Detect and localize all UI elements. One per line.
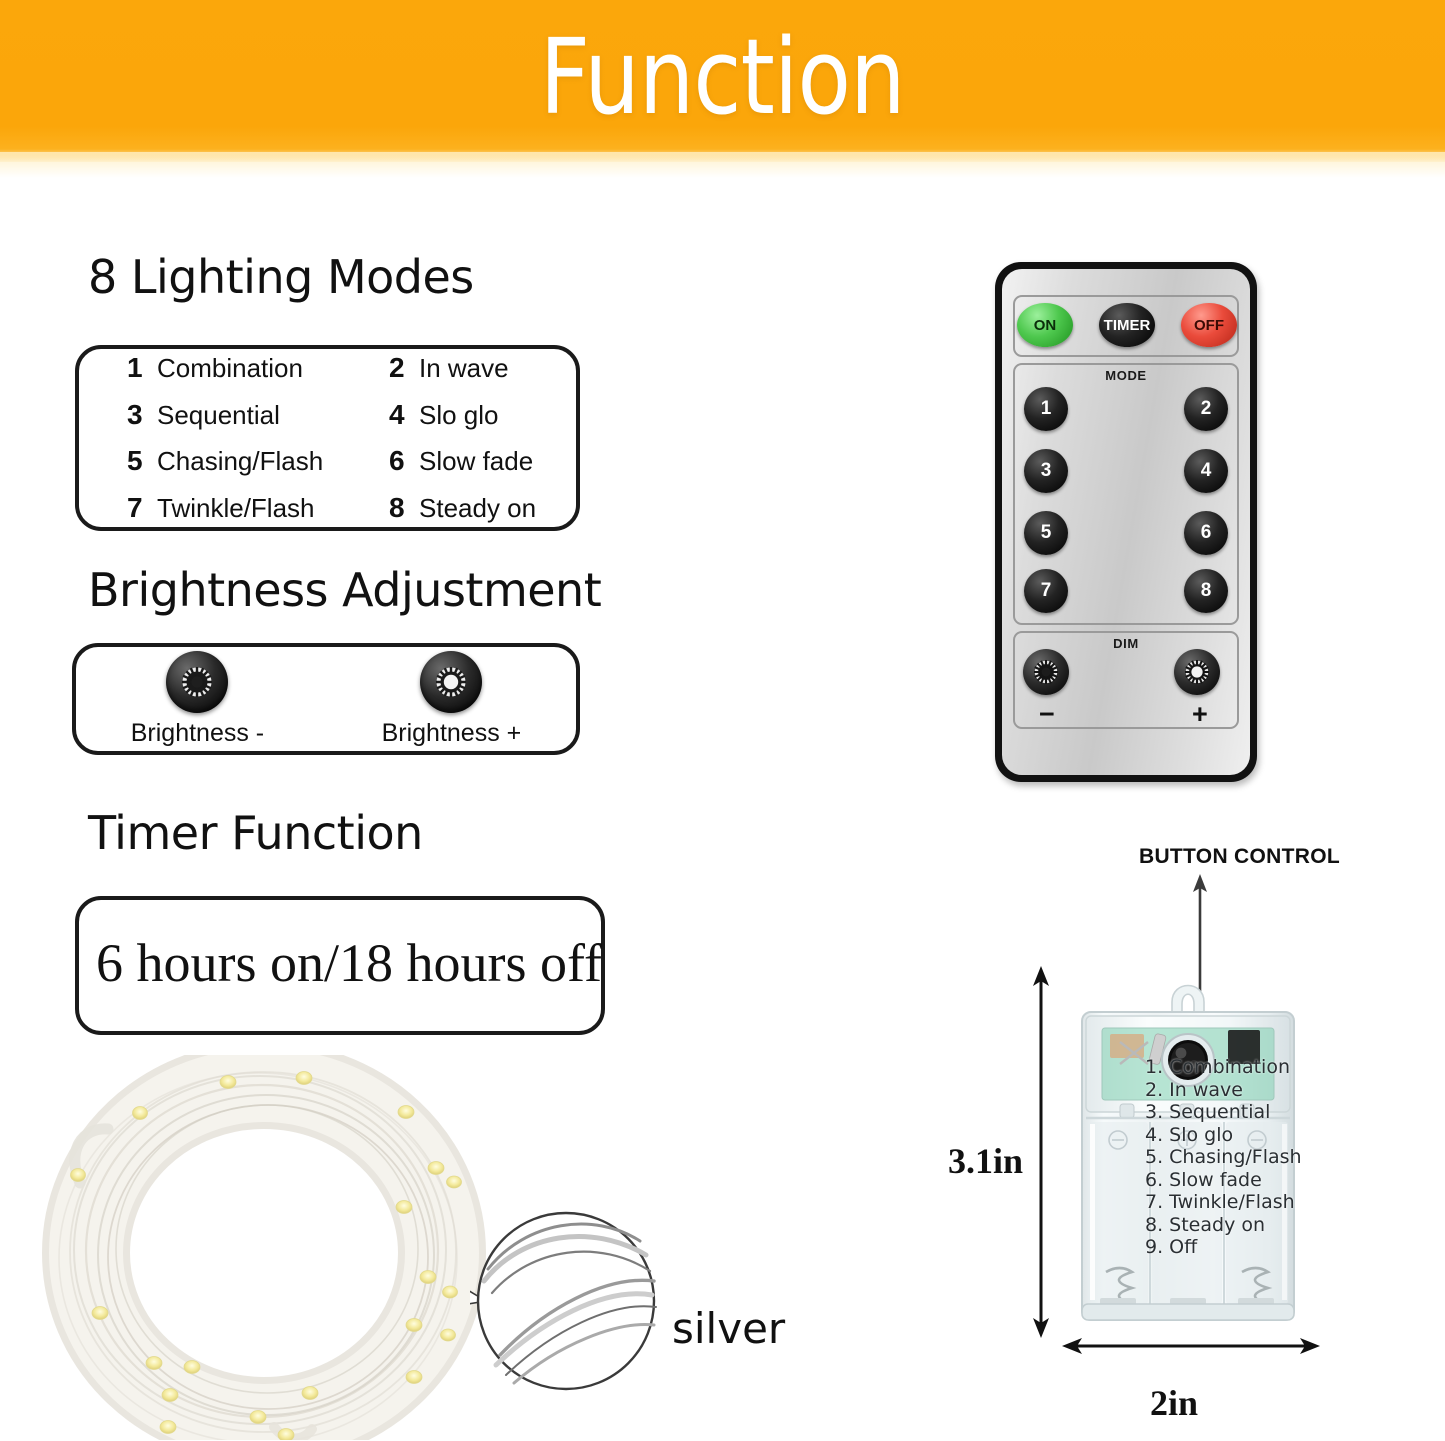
infographic-page: Function 8 Lighting Modes 1 Combination …	[0, 0, 1445, 1441]
remote-dim-up-button[interactable]	[1174, 649, 1220, 695]
mode-item: 8 Steady on	[389, 492, 632, 524]
mode-number: 2	[389, 352, 419, 384]
remote-control[interactable]: ON TIMER OFF MODE 1 2 3 4 5 6 7 8 DIM	[995, 262, 1257, 782]
remote-dim-down-button[interactable]	[1023, 649, 1069, 695]
dim-plus-label: +	[1192, 699, 1208, 730]
mode-number: 1	[127, 352, 157, 384]
brightness-controls: Brightness -	[72, 643, 580, 755]
mode-item: 7 Twinkle/Flash	[127, 492, 389, 524]
lighting-modes-grid: 1 Combination 2 In wave 3 Sequential 4 S…	[75, 345, 580, 531]
mode-number: 4	[389, 399, 419, 431]
remote-mode-button-5[interactable]: 5	[1024, 511, 1068, 555]
battery-mode-line: 1. Combination	[1145, 1056, 1320, 1079]
mode-item: 4 Slo glo	[389, 399, 632, 431]
wire-material-label: silver	[672, 1304, 785, 1353]
mode-label: Chasing/Flash	[157, 446, 323, 477]
brightness-plus-label: Brightness +	[382, 719, 522, 748]
remote-on-button[interactable]: ON	[1017, 303, 1073, 347]
brightness-up-icon	[420, 651, 482, 713]
height-dimension-label: 3.1in	[948, 1140, 1023, 1182]
battery-mode-line: 8. Steady on	[1145, 1214, 1320, 1237]
brightness-minus-item: Brightness -	[131, 651, 264, 748]
battery-box-mode-list: 1. Combination 2. In wave 3. Sequential …	[1145, 1056, 1320, 1259]
mode-number: 7	[127, 492, 157, 524]
mode-item: 1 Combination	[127, 352, 389, 384]
brightness-minus-label: Brightness -	[131, 719, 264, 748]
page-title: Function	[540, 25, 905, 129]
mode-panel-title: MODE	[1015, 368, 1237, 383]
height-dimension-arrow	[1028, 966, 1054, 1338]
mode-item: 3 Sequential	[127, 399, 389, 431]
button-control-callout: BUTTON CONTROL	[1139, 845, 1340, 869]
width-dimension-label: 2in	[1150, 1382, 1198, 1424]
mode-number: 8	[389, 492, 419, 524]
banner-fade-divider	[0, 152, 1445, 178]
width-dimension-arrow	[1062, 1333, 1320, 1359]
remote-mode-button-8[interactable]: 8	[1184, 569, 1228, 613]
mode-label: Slow fade	[419, 446, 533, 477]
mode-label: In wave	[419, 353, 509, 384]
mode-label: Slo glo	[419, 400, 499, 431]
remote-faceplate: ON TIMER OFF MODE 1 2 3 4 5 6 7 8 DIM	[1002, 269, 1250, 775]
mode-label: Steady on	[419, 493, 536, 524]
remote-mode-button-3[interactable]: 3	[1024, 449, 1068, 493]
battery-mode-line: 7. Twinkle/Flash	[1145, 1191, 1320, 1214]
battery-mode-line: 2. In wave	[1145, 1079, 1320, 1102]
remote-mode-button-2[interactable]: 2	[1184, 387, 1228, 431]
led-string-light-coil	[36, 1055, 506, 1440]
mode-item: 5 Chasing/Flash	[127, 445, 389, 477]
mode-number: 6	[389, 445, 419, 477]
remote-mode-button-6[interactable]: 6	[1184, 511, 1228, 555]
remote-mode-button-4[interactable]: 4	[1184, 449, 1228, 493]
battery-mode-line: 5. Chasing/Flash	[1145, 1146, 1320, 1169]
lighting-modes-heading: 8 Lighting Modes	[88, 250, 474, 304]
battery-mode-line: 4. Slo glo	[1145, 1124, 1320, 1147]
brightness-plus-item: Brightness +	[382, 651, 522, 748]
remote-mode-button-7[interactable]: 7	[1024, 569, 1068, 613]
mode-label: Sequential	[157, 400, 280, 431]
remote-off-button[interactable]: OFF	[1181, 303, 1237, 347]
mode-label: Combination	[157, 353, 303, 384]
mode-item: 6 Slow fade	[389, 445, 632, 477]
mode-item: 2 In wave	[389, 352, 632, 384]
mode-number: 5	[127, 445, 157, 477]
timer-heading: Timer Function	[88, 806, 423, 860]
wire-magnifier-detail	[470, 1205, 662, 1397]
timer-value: 6 hours on/18 hours off	[96, 932, 596, 994]
battery-mode-line: 3. Sequential	[1145, 1101, 1320, 1124]
remote-mode-button-1[interactable]: 1	[1024, 387, 1068, 431]
brightness-down-icon	[166, 651, 228, 713]
dim-minus-label: −	[1039, 699, 1055, 730]
mode-number: 3	[127, 399, 157, 431]
battery-mode-line: 6. Slow fade	[1145, 1169, 1320, 1192]
remote-timer-button[interactable]: TIMER	[1099, 303, 1155, 347]
battery-mode-line: 9. Off	[1145, 1236, 1320, 1259]
header-banner: Function	[0, 0, 1445, 162]
brightness-heading: Brightness Adjustment	[88, 563, 601, 617]
mode-label: Twinkle/Flash	[157, 493, 315, 524]
